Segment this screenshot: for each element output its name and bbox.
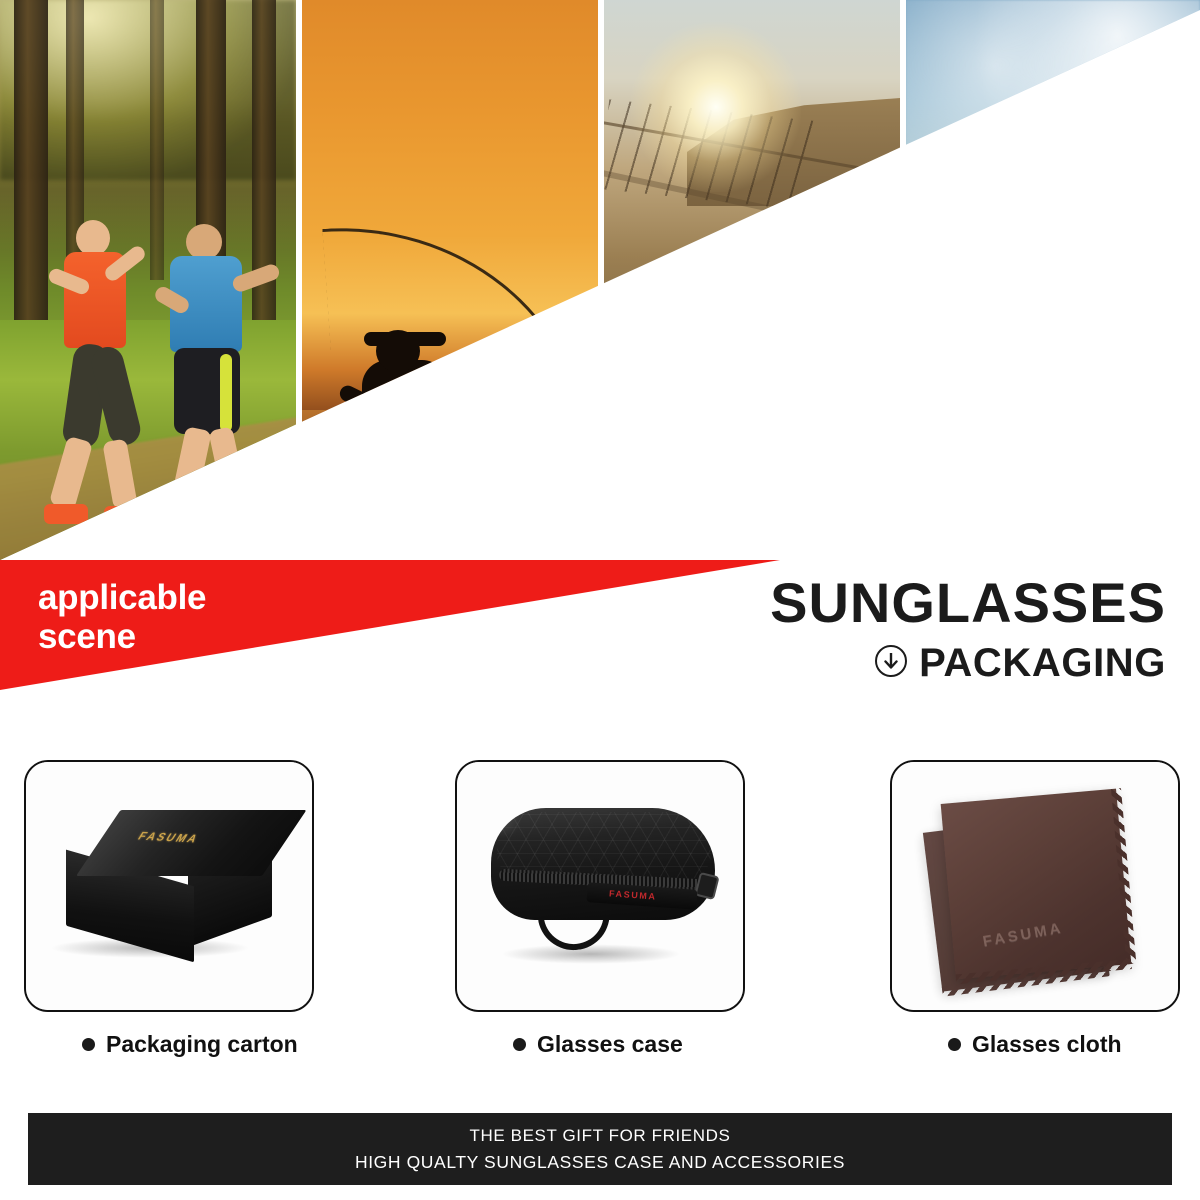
product-label: Packaging carton (106, 1031, 298, 1058)
download-circle-icon (874, 644, 908, 683)
convertible-car (604, 290, 900, 560)
packaging-carton-image: FASUMA (64, 810, 274, 960)
scene-photo-fishing (302, 0, 598, 560)
product-marketing-page: applicable scene SUNGLASSES PACKAGING (0, 0, 1200, 1200)
page-title: SUNGLASSES (770, 575, 1166, 631)
product-card-packaging-carton: FASUMA Packaging carton (24, 760, 314, 1058)
product-frame: FASUMA (455, 760, 745, 1012)
bullet-icon (513, 1038, 526, 1051)
scene-photo-driving (604, 0, 900, 560)
footer-banner: THE BEST GIFT FOR FRIENDS HIGH QUALTY SU… (28, 1113, 1172, 1185)
bullet-icon (82, 1038, 95, 1051)
glasses-cloth-image: FASUMA (948, 796, 1124, 972)
car-passenger (700, 416, 870, 560)
scene-photo-band (0, 0, 1200, 560)
product-label: Glasses cloth (972, 1031, 1122, 1058)
page-subtitle: PACKAGING (919, 643, 1166, 683)
product-caption: Packaging carton (24, 1031, 314, 1058)
cyclist-rider (928, 80, 1178, 510)
product-caption: Glasses case (455, 1031, 745, 1058)
applicable-scene-label: applicable scene (38, 578, 358, 656)
applicable-scene-line1: applicable (38, 578, 358, 617)
product-card-glasses-cloth: FASUMA Glasses cloth (890, 760, 1180, 1058)
angler-silhouette (326, 310, 516, 560)
product-label: Glasses case (537, 1031, 683, 1058)
product-caption: Glasses cloth (890, 1031, 1180, 1058)
scene-photo-cycling (906, 0, 1200, 560)
cloth-brand-logo: FASUMA (982, 919, 1065, 950)
road-bike (916, 320, 1186, 560)
footer-line-2: HIGH QUALTY SUNGLASSES CASE AND ACCESSOR… (355, 1152, 845, 1173)
product-gallery: FASUMA Packaging carton FASUMA (0, 760, 1200, 1090)
product-card-glasses-case: FASUMA Glasses case (455, 760, 745, 1058)
runner-male (158, 222, 288, 542)
product-frame: FASUMA (890, 760, 1180, 1012)
footer-line-1: THE BEST GIFT FOR FRIENDS (470, 1126, 731, 1146)
scene-photo-running (0, 0, 296, 560)
applicable-scene-line2: scene (38, 617, 358, 656)
glasses-case-image: FASUMA (491, 808, 715, 958)
product-frame: FASUMA (24, 760, 314, 1012)
runner-female (42, 216, 162, 546)
packaging-heading: SUNGLASSES PACKAGING (770, 575, 1166, 683)
bullet-icon (948, 1038, 961, 1051)
hero-scene-section: applicable scene SUNGLASSES PACKAGING (0, 0, 1200, 700)
